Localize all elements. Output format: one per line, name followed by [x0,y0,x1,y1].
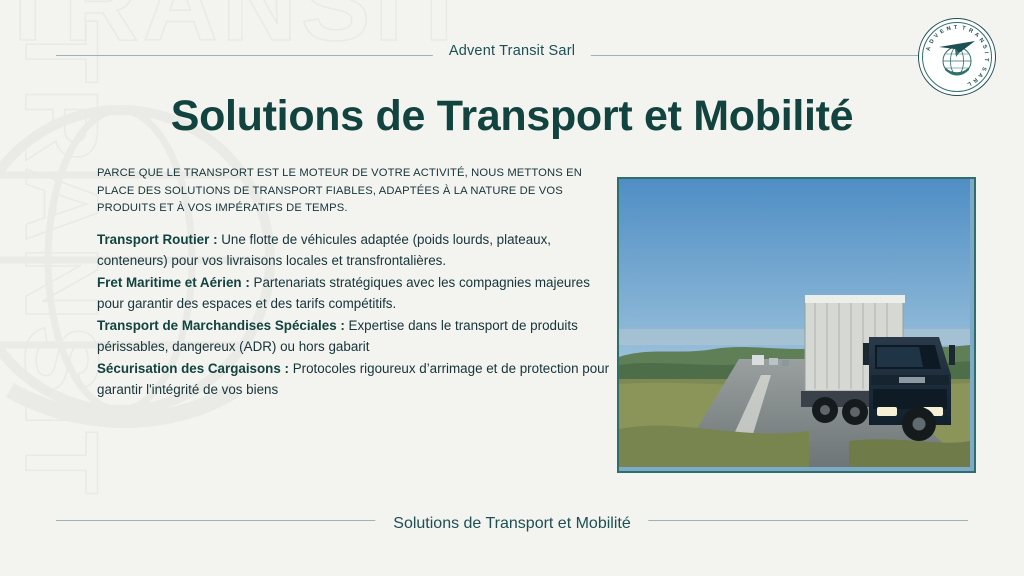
page-title: Solutions de Transport et Mobilité [0,92,1024,141]
logo-inner: A D V E N T T R A N S I T S A R L [922,22,992,92]
truck-photo [617,177,976,473]
slide-root: TRANSIT TRANSIT Advent Transit Sarl A D … [0,0,1024,576]
list-item-label: Transport Routier : [97,232,218,247]
list-item: Transport Routier : Une flotte de véhicu… [97,230,612,271]
list-item-label: Fret Maritime et Aérien : [97,275,250,290]
logo-ring-text: A D V E N T T R A N S I T S A R L [923,23,991,91]
intro-paragraph: PARCE QUE LE TRANSPORT EST LE MOTEUR DE … [97,165,597,218]
list-item: Sécurisation des Cargaisons : Protocoles… [97,359,612,400]
company-logo: A D V E N T T R A N S I T S A R L [918,18,996,96]
footer-title: Solutions de Transport et Mobilité [375,515,648,533]
truck-photo-illustration [619,179,970,467]
list-item: Fret Maritime et Aérien : Partenariats s… [97,273,612,314]
list-item-label: Sécurisation des Cargaisons : [97,361,289,376]
header-title: Advent Transit Sarl [433,43,591,59]
list-item: Transport de Marchandises Spéciales : Ex… [97,316,612,357]
bullet-list: Transport Routier : Une flotte de véhicu… [97,230,612,402]
list-item-label: Transport de Marchandises Spéciales : [97,318,345,333]
